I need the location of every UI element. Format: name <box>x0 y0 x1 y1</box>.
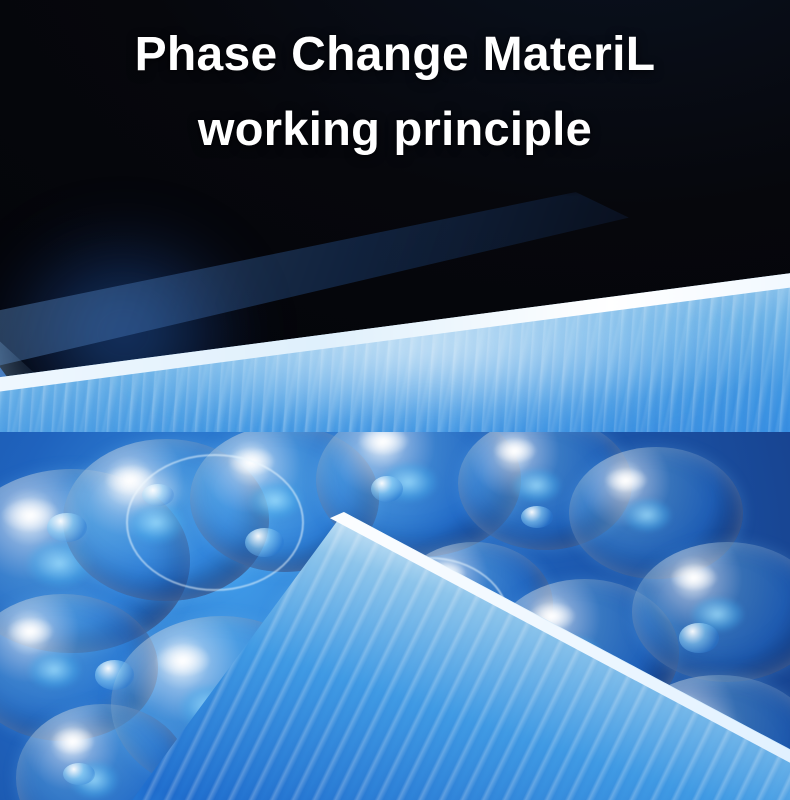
inner-bubble <box>47 513 87 542</box>
inner-bubble <box>679 623 719 652</box>
poster-canvas: Phase Change MateriL working principle <box>0 0 790 800</box>
inner-bubble <box>371 476 403 502</box>
inner-bubble <box>521 506 553 528</box>
inner-bubble <box>63 763 95 785</box>
inner-bubble <box>95 660 135 689</box>
